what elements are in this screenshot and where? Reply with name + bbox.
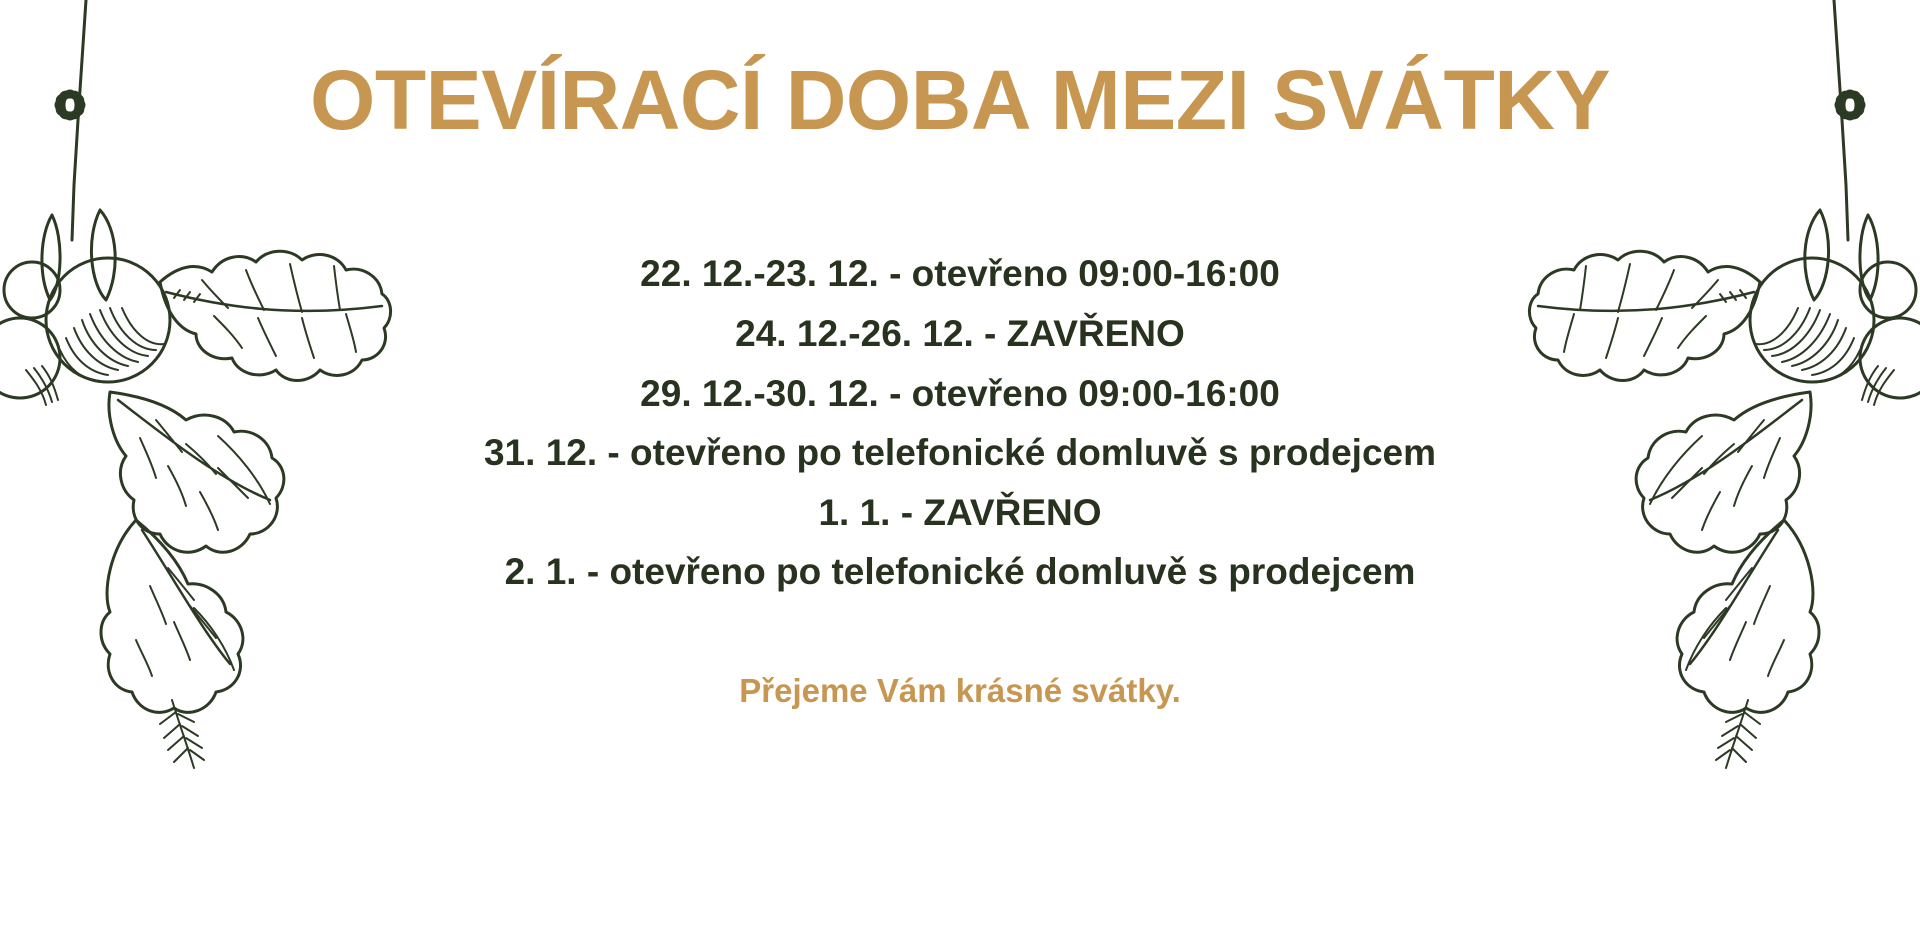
schedule-line: 2. 1. - otevřeno po telefonické domluvě … [505, 550, 1416, 594]
schedule-list: 22. 12.-23. 12. - otevřeno 09:00-16:00 2… [484, 252, 1436, 594]
schedule-line: 29. 12.-30. 12. - otevřeno 09:00-16:00 [640, 372, 1280, 416]
schedule-line: 24. 12.-26. 12. - ZAVŘENO [735, 312, 1185, 356]
schedule-line: 31. 12. - otevřeno po telefonické domluv… [484, 431, 1436, 475]
banner-content: OTEVÍRACÍ DOBA MEZI SVÁTKY 22. 12.-23. 1… [0, 0, 1920, 940]
schedule-line: 22. 12.-23. 12. - otevřeno 09:00-16:00 [640, 252, 1280, 296]
page-title: OTEVÍRACÍ DOBA MEZI SVÁTKY [310, 56, 1610, 144]
holiday-hours-banner: OTEVÍRACÍ DOBA MEZI SVÁTKY 22. 12.-23. 1… [0, 0, 1920, 940]
schedule-line: 1. 1. - ZAVŘENO [818, 491, 1101, 535]
closing-greeting: Přejeme Vám krásné svátky. [739, 672, 1181, 710]
